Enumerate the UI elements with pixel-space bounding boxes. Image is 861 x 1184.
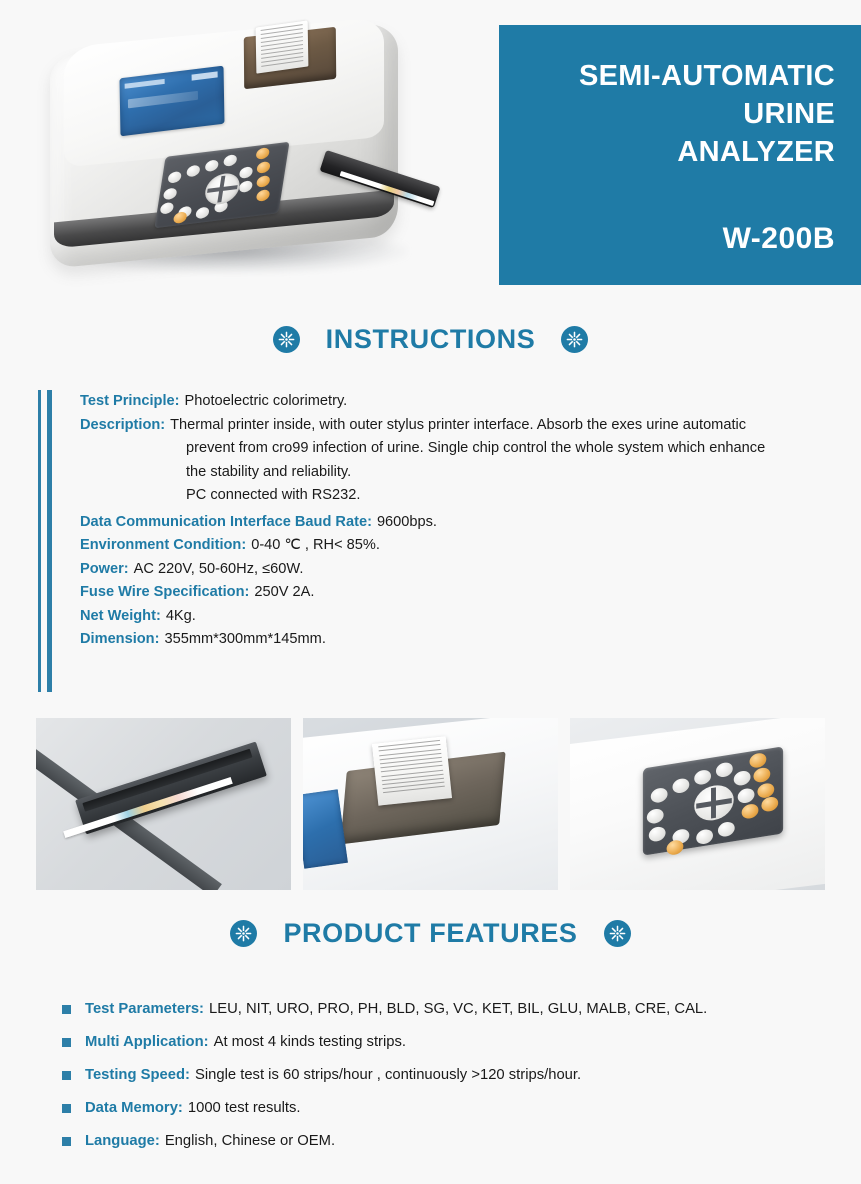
- product-features-list: Test Parameters: LEU, NIT, URO, PRO, PH,…: [62, 993, 842, 1158]
- feature-row-testing-speed: Testing Speed: Single test is 60 strips/…: [62, 1059, 842, 1092]
- spec-value: 355mm*300mm*145mm.: [164, 628, 325, 652]
- spec-key: Description:: [80, 414, 170, 438]
- feature-row-language: Language: English, Chinese or OEM.: [62, 1125, 842, 1158]
- strip-reader-photo: [36, 718, 291, 890]
- lcd-text-right: [192, 71, 218, 80]
- spec-key: Power:: [80, 558, 134, 582]
- keypad-photo: [570, 718, 825, 890]
- spec-value: AC 220V, 50-60Hz, ≤60W.: [134, 558, 304, 582]
- spec-row-net-weight: Net Weight: 4Kg.: [80, 605, 836, 629]
- spec-value: 250V 2A.: [254, 581, 314, 605]
- hero-section: SEMI-AUTOMATIC URINE ANALYZER W-200B: [0, 0, 861, 300]
- spec-description-line-3: the stability and reliability.: [186, 461, 836, 485]
- spec-description-line-4: PC connected with RS232.: [186, 484, 836, 508]
- spec-row-test-principle: Test Principle: Photoelectric colorimetr…: [80, 390, 836, 414]
- feature-row-data-memory: Data Memory: 1000 test results.: [62, 1092, 842, 1125]
- spec-row-dimension: Dimension: 355mm*300mm*145mm.: [80, 628, 836, 652]
- spec-value: 0-40 ℃ , RH< 85%.: [251, 534, 380, 558]
- spec-description-line-2: prevent from cro99 infection of urine. S…: [186, 437, 836, 461]
- bullet-square-icon: [62, 1071, 71, 1080]
- spec-list: Test Principle: Photoelectric colorimetr…: [80, 390, 836, 652]
- bullet-square-icon: [62, 1005, 71, 1014]
- spec-row-fuse-wire: Fuse Wire Specification: 250V 2A.: [80, 581, 836, 605]
- snowflake-icon: [604, 920, 631, 947]
- product-features-heading: PRODUCT FEATURES: [0, 918, 861, 949]
- bullet-square-icon: [62, 1104, 71, 1113]
- product-datasheet-page: SEMI-AUTOMATIC URINE ANALYZER W-200B INS…: [0, 0, 861, 1184]
- banner-model-number: W-200B: [515, 222, 835, 256]
- spec-value: Photoelectric colorimetry.: [184, 390, 347, 414]
- feature-key: Test Parameters:: [85, 993, 209, 1026]
- product-title-banner: SEMI-AUTOMATIC URINE ANALYZER W-200B: [499, 25, 861, 285]
- feature-row-multi-application: Multi Application: At most 4 kinds testi…: [62, 1026, 842, 1059]
- product-photo-gallery: [36, 718, 826, 890]
- banner-title-line-1: SEMI-AUTOMATIC: [515, 57, 835, 95]
- dpad-icon: [694, 783, 734, 824]
- feature-key: Testing Speed:: [85, 1059, 195, 1092]
- spec-row-baud-rate: Data Communication Interface Baud Rate: …: [80, 511, 836, 535]
- feature-value: 1000 test results.: [188, 1092, 301, 1125]
- spec-value: 4Kg.: [166, 605, 196, 629]
- banner-title-line-3: ANALYZER: [515, 133, 835, 171]
- feature-key: Multi Application:: [85, 1026, 214, 1059]
- banner-title-line-2: URINE: [515, 95, 835, 133]
- spec-value: Thermal printer inside, with outer stylu…: [170, 414, 746, 438]
- feature-value: At most 4 kinds testing strips.: [214, 1026, 406, 1059]
- feature-value: English, Chinese or OEM.: [165, 1125, 335, 1158]
- lcd-text-left: [125, 79, 165, 89]
- spec-key: Net Weight:: [80, 605, 166, 629]
- spec-key: Dimension:: [80, 628, 164, 652]
- banner-title: SEMI-AUTOMATIC URINE ANALYZER: [515, 57, 835, 171]
- bullet-square-icon: [62, 1137, 71, 1146]
- bullet-square-icon: [62, 1038, 71, 1047]
- spec-key: Data Communication Interface Baud Rate:: [80, 511, 377, 535]
- snowflake-icon: [561, 326, 588, 353]
- spec-key: Test Principle:: [80, 390, 184, 414]
- accent-rule-thick: [47, 390, 52, 692]
- urine-analyzer-product-photo: [20, 10, 460, 295]
- feature-key: Data Memory:: [85, 1092, 188, 1125]
- dpad-icon: [203, 172, 242, 207]
- feature-row-test-parameters: Test Parameters: LEU, NIT, URO, PRO, PH,…: [62, 993, 842, 1026]
- feature-value: Single test is 60 strips/hour , continuo…: [195, 1059, 581, 1092]
- product-features-heading-label: PRODUCT FEATURES: [283, 918, 577, 949]
- spec-key: Environment Condition:: [80, 534, 251, 558]
- instructions-heading-label: INSTRUCTIONS: [326, 324, 536, 355]
- instructions-heading: INSTRUCTIONS: [0, 324, 861, 355]
- feature-key: Language:: [85, 1125, 165, 1158]
- snowflake-icon: [230, 920, 257, 947]
- spec-value: 9600bps.: [377, 511, 437, 535]
- spec-row-description: Description: Thermal printer inside, wit…: [80, 414, 836, 438]
- spec-key: Fuse Wire Specification:: [80, 581, 254, 605]
- thermal-printer-photo: [303, 718, 558, 890]
- printed-receipt: [372, 736, 452, 805]
- spec-row-power: Power: AC 220V, 50-60Hz, ≤60W.: [80, 558, 836, 582]
- feature-value: LEU, NIT, URO, PRO, PH, BLD, SG, VC, KET…: [209, 993, 707, 1026]
- snowflake-icon: [273, 326, 300, 353]
- accent-rule-thin: [38, 390, 41, 692]
- spec-row-environment-condition: Environment Condition: 0-40 ℃ , RH< 85%.: [80, 534, 836, 558]
- printer-paper: [256, 20, 309, 73]
